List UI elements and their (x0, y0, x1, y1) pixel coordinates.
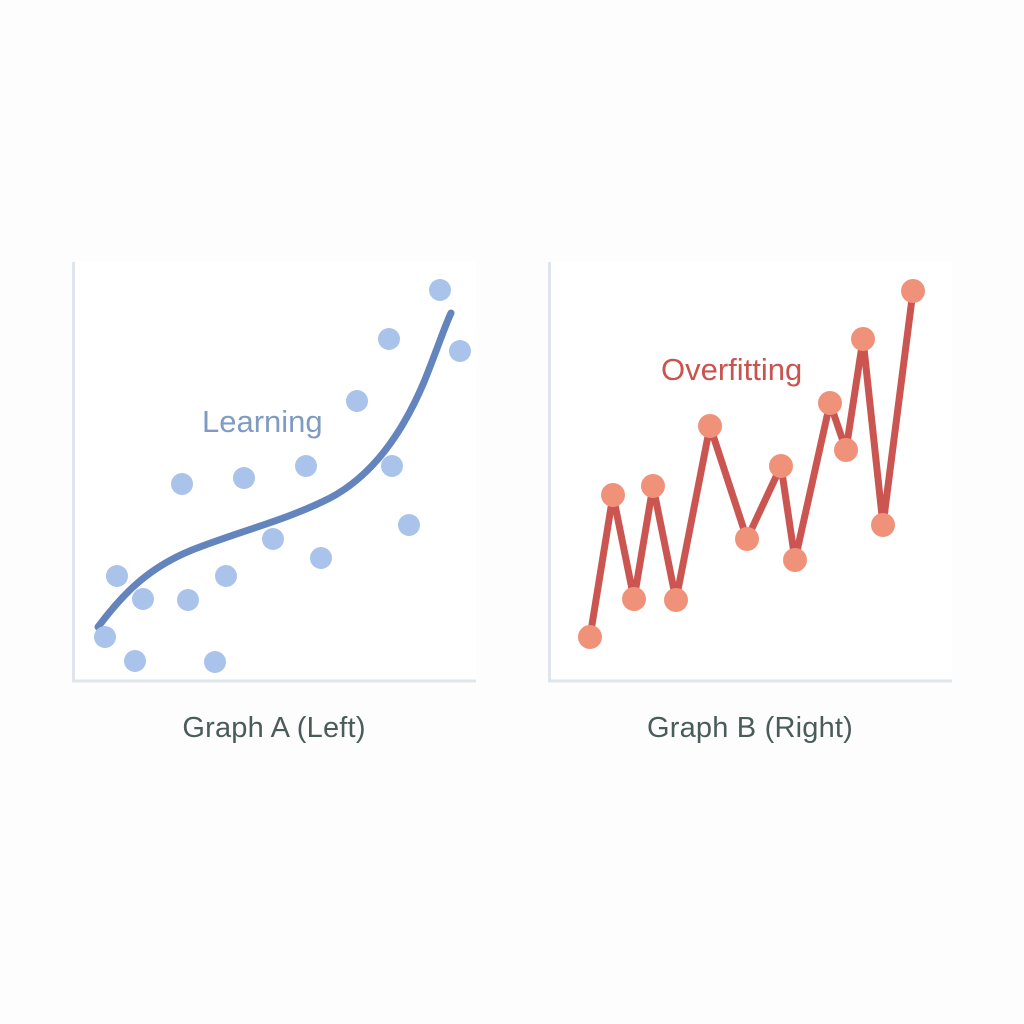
graph-a-plot: Learning (72, 262, 476, 683)
graph-a-caption: Graph A (Left) (72, 712, 476, 745)
scatter-point (215, 565, 237, 587)
graph-a-axis-lines (74, 262, 476, 681)
scatter-point (262, 528, 284, 550)
scatter-point (378, 328, 400, 350)
graph-b-plot: Overfitting (548, 262, 952, 683)
scatter-point (171, 473, 193, 495)
figure-canvas: Learning (0, 0, 1024, 1024)
data-point-marker (901, 279, 925, 303)
data-point-marker (578, 625, 602, 649)
data-point-marker (769, 454, 793, 478)
scatter-point (310, 547, 332, 569)
graph-a-annotation-label: Learning (202, 404, 323, 439)
scatter-point (204, 651, 226, 673)
graph-b-panel: Overfitting (548, 262, 952, 683)
scatter-point (429, 279, 451, 301)
data-point-marker (664, 588, 688, 612)
scatter-point (94, 626, 116, 648)
scatter-point (346, 390, 368, 412)
scatter-point (132, 588, 154, 610)
scatter-point (381, 455, 403, 477)
scatter-point (177, 589, 199, 611)
scatter-point (295, 455, 317, 477)
data-point-marker (783, 548, 807, 572)
data-point-marker (698, 414, 722, 438)
data-point-marker (601, 483, 625, 507)
graph-a-panel: Learning (72, 262, 476, 683)
graph-a-scatter-group (94, 279, 471, 673)
data-point-marker (851, 327, 875, 351)
scatter-point (233, 467, 255, 489)
graph-b-annotation-label: Overfitting (661, 352, 802, 387)
data-point-marker (735, 527, 759, 551)
graph-b-caption: Graph B (Right) (548, 712, 952, 745)
data-point-marker (871, 513, 895, 537)
data-point-marker (834, 438, 858, 462)
data-point-marker (622, 587, 646, 611)
scatter-point (106, 565, 128, 587)
data-point-marker (641, 474, 665, 498)
scatter-point (449, 340, 471, 362)
scatter-point (398, 514, 420, 536)
scatter-point (124, 650, 146, 672)
data-point-marker (818, 391, 842, 415)
